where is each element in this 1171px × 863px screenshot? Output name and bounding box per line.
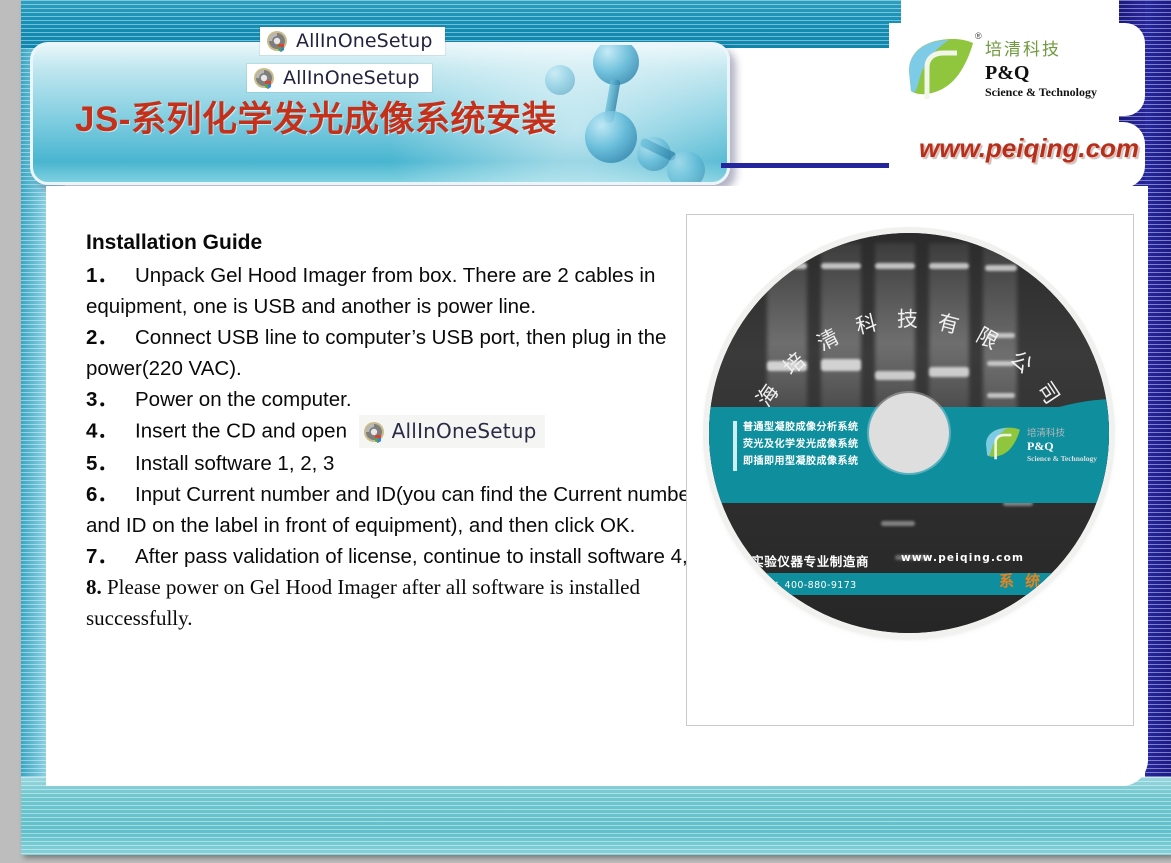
step-text: Please power on Gel Hood Imager after al… [86,575,640,630]
setup-installer-icon [363,421,385,443]
step-text: Connect USB line to computer’s USB port,… [86,326,666,380]
cd-product-line: 普通型凝胶成像分析系统 [743,419,859,436]
cd-brand-logo: 培清科技 P&Q Science & Technology [984,425,1097,463]
step-text: Power on the computer. [135,388,352,411]
cd-hotline-text: 服务热线：400-880-9173 [735,577,857,591]
brand-tagline: Science & Technology [985,85,1097,100]
guide-heading: Installation Guide [86,228,706,258]
step-number: 6． [86,483,135,506]
cd-center-hole [869,393,949,473]
brand-text-group: 培清科技 P&Q Science & Technology [985,35,1097,100]
step-number: 2． [86,326,135,349]
guide-step-5: 5．Install software 1, 2, 3 [86,448,706,479]
allinonesetup-label: AllInOneSetup [392,416,537,447]
title-chinese: 系列化学发光成像系统安装 [131,100,557,139]
allinonesetup-label: AllInOneSetup [283,67,420,89]
top-teal-band [21,0,901,48]
guide-step-6: 6．Input Current number and ID(you can fi… [86,479,706,541]
step-number: 8. [86,575,102,599]
pq-leaf-logo-icon [905,37,977,103]
presentation-slide: JS-系列化学发光成像系统安装 ® 培清科技 P&Q Science & Tec… [21,0,1171,855]
step-number: 1． [86,264,135,287]
setup-installer-icon [266,30,288,52]
step-text: Unpack Gel Hood Imager from box. There a… [86,264,655,318]
step-number: 7． [86,545,135,568]
pq-leaf-logo-icon [984,426,1022,462]
cd-website-url: www.peiqing.com [901,552,1024,564]
bottom-teal-band [21,777,1171,855]
guide-step-1: 1．Unpack Gel Hood Imager from box. There… [86,260,706,322]
step-number: 5． [86,452,135,475]
cd-brand-tagline: Science & Technology [1027,454,1097,463]
title-prefix: JS- [75,100,131,139]
allinonesetup-label: AllInOneSetup [296,30,433,52]
registered-trademark-icon: ® [975,31,982,41]
allinonesetup-inline-badge[interactable]: AllInOneSetup [359,415,545,448]
brand-abbr: P&Q [985,62,1097,85]
molecule-atom-icon [667,151,705,185]
setup-installer-icon [253,67,275,89]
cd-brand-text: 培清科技 P&Q Science & Technology [1027,425,1097,463]
allinonesetup-chip-1[interactable]: AllInOneSetup [260,27,445,55]
page-title: JS-系列化学发光成像系统安装 [75,91,557,142]
guide-step-3: 3．Power on the computer. [86,384,706,415]
cd-image-frame: 上 海 培 清 科 技 有 限 公 司 普通型凝胶成像分析系统 荧光及化学发光成… [686,214,1134,726]
brand-name-cn: 培清科技 [985,35,1097,60]
step-text: Input Current number and ID(you can find… [86,483,697,537]
molecule-atom-icon [585,111,637,163]
brand-logo-panel: ® 培清科技 P&Q Science & Technology [889,23,1145,116]
software-cd-disc: 上 海 培 清 科 技 有 限 公 司 普通型凝胶成像分析系统 荧光及化学发光成… [709,233,1109,633]
cd-brand-abbr: P&Q [1027,439,1097,454]
cd-product-list: 普通型凝胶成像分析系统 荧光及化学发光成像系统 即插即用型凝胶成像系统 [743,419,859,470]
right-navy-band-inner [1145,0,1171,855]
guide-step-4: 4．Insert the CD and open [86,415,706,448]
step-number: 3． [86,388,135,411]
guide-step-2: 2．Connect USB line to computer’s USB por… [86,322,706,384]
cd-product-line: 即插即用型凝胶成像系统 [743,453,859,470]
guide-step-7: 7．After pass validation of license, cont… [86,541,706,572]
website-url[interactable]: www.peiqing.com [919,133,1139,164]
step-number: 4． [86,420,135,443]
step-text: After pass validation of license, contin… [135,545,705,568]
cd-software-label: 系 统 软 件 [999,570,1096,591]
step-text: Insert the CD and open [135,420,347,443]
content-panel: Installation Guide 1．Unpack Gel Hood Ima… [46,186,1148,786]
cd-brand-name-cn: 培清科技 [1027,425,1097,439]
step-text: Install software 1, 2, 3 [135,452,334,475]
cd-maker-line: 生物实验仪器专业制造商 [725,551,869,570]
cd-list-accent-bar [733,421,737,471]
cd-product-line: 荧光及化学发光成像系统 [743,436,859,453]
allinonesetup-chip-2[interactable]: AllInOneSetup [247,64,432,92]
slide-stage: JS-系列化学发光成像系统安装 ® 培清科技 P&Q Science & Tec… [0,0,1171,863]
installation-guide: Installation Guide 1．Unpack Gel Hood Ima… [86,228,706,634]
guide-step-8: 8. Please power on Gel Hood Imager after… [86,572,706,634]
